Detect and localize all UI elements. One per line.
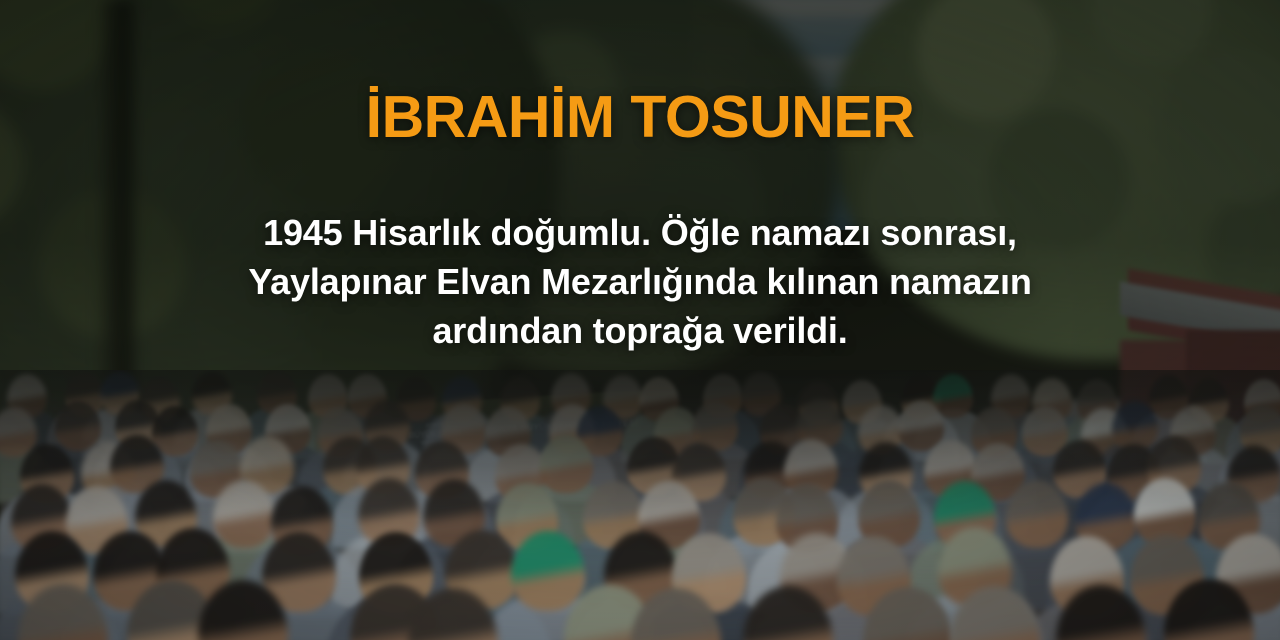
description: 1945 Hisarlık doğumlu. Öğle namazı sonra… — [160, 147, 1120, 356]
obituary-card: KONYA BÜYÜKŞEHİR BELEDİYESİ KONYA BÜYÜKŞ… — [0, 0, 1280, 640]
page-title: İBRAHİM TOSUNER — [0, 0, 1280, 147]
description-line-3: ardından toprağa verildi. — [160, 307, 1120, 356]
description-line-1: 1945 Hisarlık doğumlu. Öğle namazı sonra… — [160, 209, 1120, 258]
text-content: İBRAHİM TOSUNER 1945 Hisarlık doğumlu. Ö… — [0, 0, 1280, 356]
description-line-2: Yaylapınar Elvan Mezarlığında kılınan na… — [160, 258, 1120, 307]
